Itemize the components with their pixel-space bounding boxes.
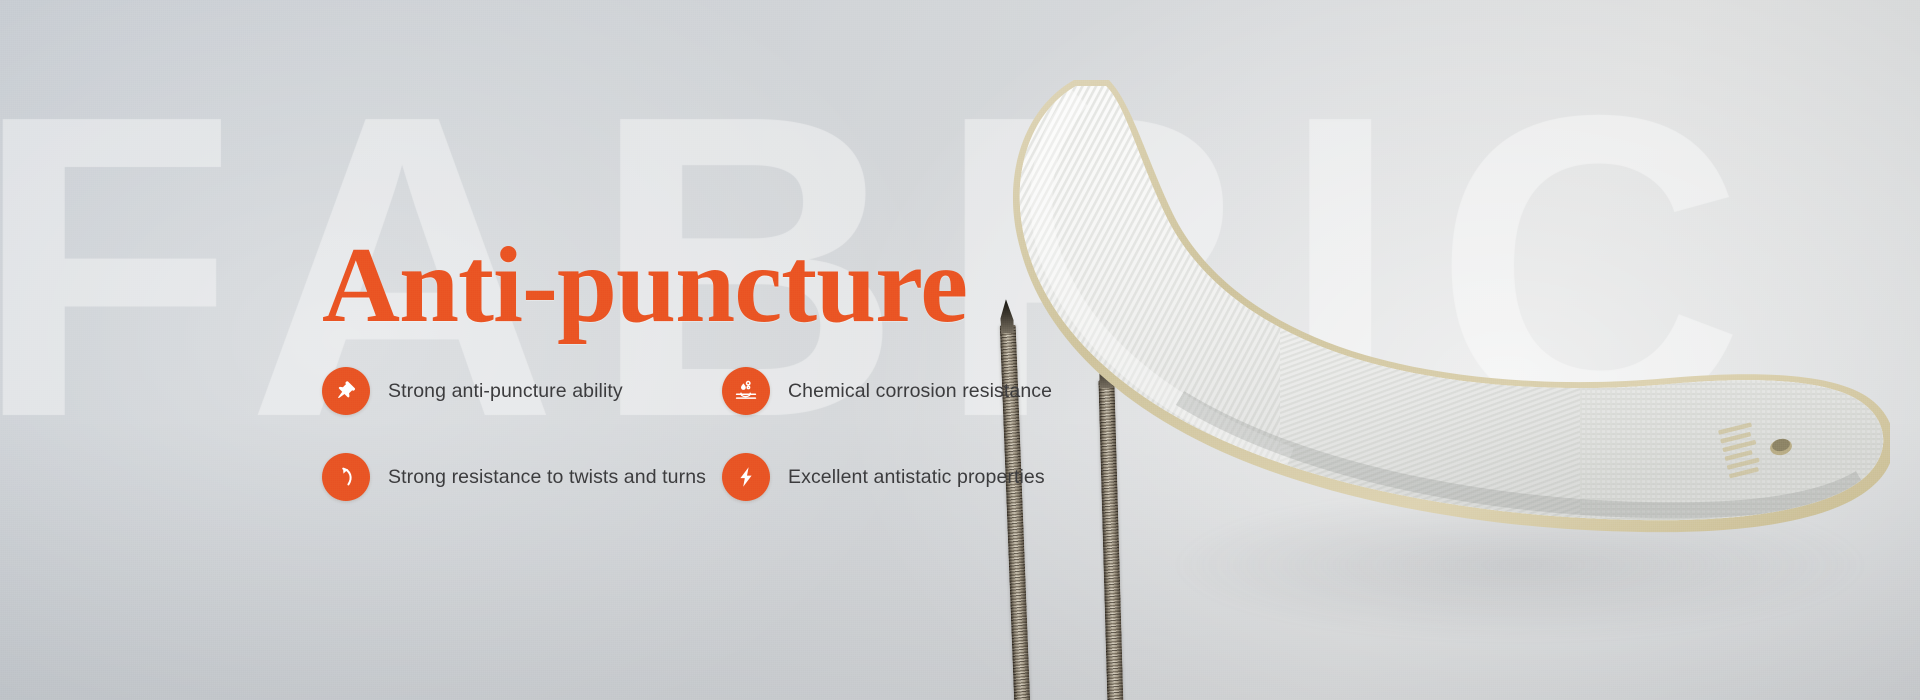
feature-label: Excellent antistatic properties (788, 466, 1045, 489)
feature-item-anti-puncture: Strong anti-puncture ability (322, 367, 722, 415)
feature-item-antistatic: Excellent antistatic properties (722, 453, 1082, 501)
feature-list: Strong anti-puncture ability Chemical co… (322, 348, 1082, 520)
liquid-droplet-icon (722, 367, 770, 415)
feature-item-twist-resistance: Strong resistance to twists and turns (322, 453, 722, 501)
rotation-arrow-icon (322, 453, 370, 501)
pushpin-icon (322, 367, 370, 415)
feature-label: Chemical corrosion resistance (788, 380, 1052, 403)
feature-label: Strong resistance to twists and turns (388, 466, 706, 489)
feature-label: Strong anti-puncture ability (388, 380, 623, 403)
lightning-bolt-icon (722, 453, 770, 501)
product-hero-banner: FABRIC (0, 0, 1920, 700)
product-image (1020, 60, 1920, 700)
page-title: Anti-puncture (322, 230, 967, 342)
feature-item-chemical-corrosion: Chemical corrosion resistance (722, 367, 1082, 415)
